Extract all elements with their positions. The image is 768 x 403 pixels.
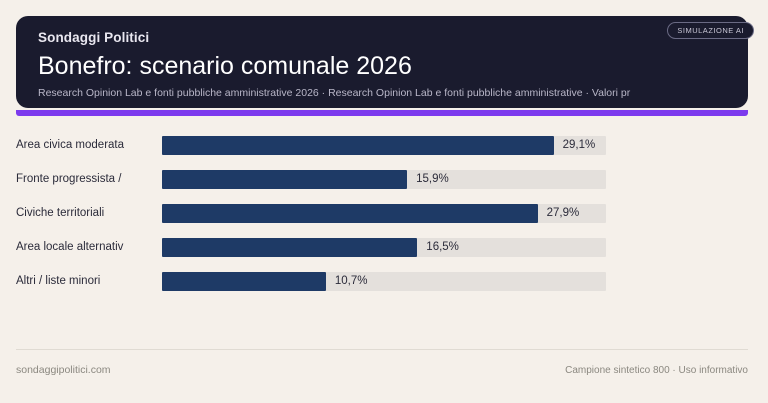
category-label: Altri / liste minori	[16, 274, 162, 288]
status-badge: SIMULAZIONE AI	[667, 22, 754, 39]
chart-row: Area civica moderata 29,1%	[16, 128, 748, 162]
bar-value-label: 16,5%	[426, 241, 459, 253]
bar-track: 27,9%	[162, 204, 606, 223]
category-label: Area civica moderata	[16, 138, 162, 152]
category-label: Civiche territoriali	[16, 206, 162, 220]
chart-row: Civiche territoriali 27,9%	[16, 196, 748, 230]
bar-track: 29,1%	[162, 136, 606, 155]
footer-note: Campione sintetico 800 · Uso informativo	[565, 365, 748, 376]
category-label: Area locale alternativ	[16, 240, 162, 254]
bar-fill	[162, 136, 554, 155]
bar-fill	[162, 170, 407, 189]
chart-row: Altri / liste minori 10,7%	[16, 264, 748, 298]
bar-value-label: 10,7%	[335, 275, 368, 287]
bar-value-label: 15,9%	[416, 173, 449, 185]
footer: sondaggipolitici.com Campione sintetico …	[16, 358, 748, 382]
chart-row: Area locale alternativ 16,5%	[16, 230, 748, 264]
page-subtitle: Research Opinion Lab e fonti pubbliche a…	[38, 86, 738, 100]
bar-track: 10,7%	[162, 272, 606, 291]
bar-track: 15,9%	[162, 170, 606, 189]
page-title: Bonefro: scenario comunale 2026	[38, 50, 728, 82]
bar-value-label: 27,9%	[547, 207, 580, 219]
chart-row: Fronte progressista / 15,9%	[16, 162, 748, 196]
bar-track: 16,5%	[162, 238, 606, 257]
footer-divider	[16, 349, 748, 350]
bar-chart: Area civica moderata 29,1% Fronte progre…	[16, 128, 748, 308]
category-label: Fronte progressista /	[16, 172, 162, 186]
footer-site-link[interactable]: sondaggipolitici.com	[16, 364, 111, 376]
bar-fill	[162, 204, 538, 223]
poll-chart-page: Sondaggi Politici Bonefro: scenario comu…	[0, 0, 768, 403]
brand-name: Sondaggi Politici	[38, 30, 728, 46]
bar-fill	[162, 238, 417, 257]
bar-value-label: 29,1%	[563, 139, 596, 151]
accent-rule	[16, 110, 748, 116]
header-card: Sondaggi Politici Bonefro: scenario comu…	[16, 16, 748, 108]
bar-fill	[162, 272, 326, 291]
